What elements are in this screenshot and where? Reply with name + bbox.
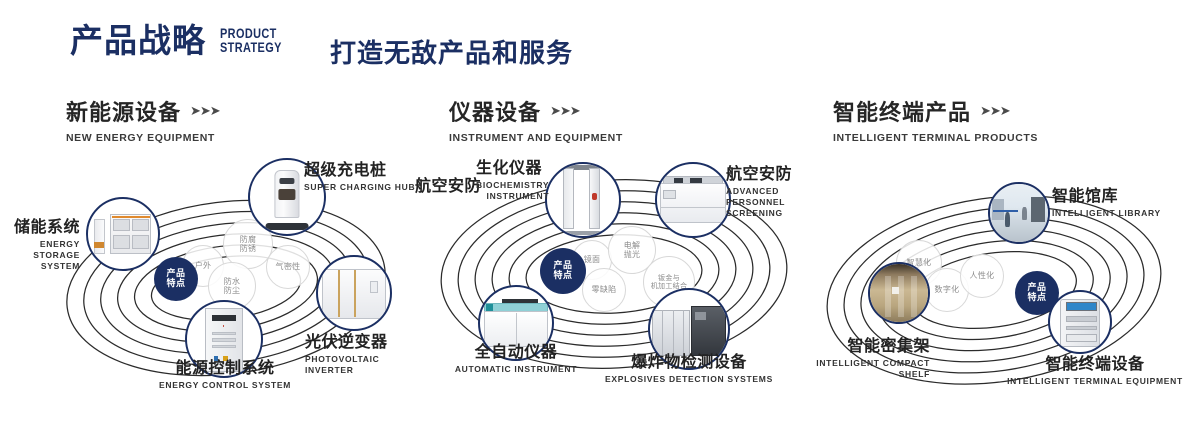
shelf-divider: [911, 276, 917, 318]
section-title-text: 新能源设备: [66, 95, 181, 127]
section-title-en: INTELLIGENT TERMINAL PRODUCTS: [833, 132, 1038, 144]
analyzer-window: [690, 178, 702, 183]
section-title-text: 仪器设备: [449, 95, 541, 127]
caption-intelligent-library: 智能馆库 INTELLIGENT LIBRARY: [1052, 182, 1161, 219]
analyzer-body: [660, 183, 726, 223]
storage-cabinet-photo: [88, 199, 158, 269]
node-advanced-personnel-screening[interactable]: [655, 162, 731, 238]
caption-aviation-security: 航空安防: [415, 172, 481, 196]
caption-explosives-detection: 爆炸物检测设备 EXPLOSIVES DETECTION SYSTEMS: [600, 348, 778, 385]
shelf-divider: [898, 276, 904, 318]
inverter-photo: [318, 257, 390, 329]
chevron-right-icon: ➤➤➤: [980, 104, 1010, 119]
pillar: [94, 219, 105, 254]
control-display: [212, 315, 237, 321]
control-bar: [212, 345, 237, 348]
caption-en: INTELLIGENT LIBRARY: [1052, 208, 1161, 219]
caption-intelligent-terminal-equipment: 智能终端设备 INTELLIGENT TERMINAL EQUIPMENT: [1000, 350, 1190, 387]
analyzer-photo: [657, 164, 729, 236]
caption-en: ENERGY CONTROL SYSTEM: [127, 380, 323, 391]
caption-intelligent-compact-shelf: 智能密集架 INTELLIGENT COMPACTSHELF: [778, 332, 930, 380]
node-photovoltaic-inverter[interactable]: [316, 255, 392, 331]
caption-cn: 生化仪器: [476, 154, 549, 178]
chevron-right-icon: ➤➤➤: [190, 104, 220, 119]
caption-energy-control-system: 能源控制系统 ENERGY CONTROL SYSTEM: [127, 354, 323, 391]
control-bar: [212, 332, 237, 335]
caption-cn: 全自动仪器: [437, 338, 595, 362]
shelf-divider: [885, 276, 891, 318]
caption-en: BIOCHEMISTRYINSTRUMENT: [476, 180, 549, 202]
shelf-label: [892, 287, 899, 294]
page-title: 产品战略 PRODUCT STRATEGY: [70, 24, 299, 57]
feature-bubble: 气密性: [266, 245, 310, 289]
control-indicator: [223, 325, 225, 327]
feature-bubble: 人性化: [960, 254, 1004, 298]
caption-cn: 储能系统: [0, 213, 80, 237]
caption-cn: 智能终端设备: [1000, 350, 1190, 374]
charger-screen: [280, 178, 295, 184]
gate-left-panel: [563, 168, 574, 228]
caption-en: INTELLIGENT TERMINAL EQUIPMENT: [1000, 376, 1190, 387]
cabinet-stripe: [112, 216, 150, 218]
inverter-seam: [338, 270, 340, 318]
control-bar: [212, 338, 237, 341]
caption-en: SUPER CHARGING HUB: [304, 182, 415, 193]
cluster-intelligent-terminal: 智慧化 数字化 人性化 产品特点 智能馆库 INTELLIGENT LIBRAR…: [800, 150, 1200, 400]
caption-cn: 智能馆库: [1052, 182, 1161, 206]
caption-biochemistry-instrument: 生化仪器 BIOCHEMISTRYINSTRUMENT: [476, 154, 549, 202]
person: [1022, 207, 1026, 220]
inverter-seam: [354, 270, 356, 318]
gate-base: [560, 231, 602, 235]
node-intelligent-compact-shelf[interactable]: [868, 262, 930, 324]
feature-bubble: 零缺陷: [582, 268, 626, 312]
page-subtitle: 打造无敌产品和服务: [330, 33, 573, 70]
product-features-badge: 产品特点: [154, 257, 198, 301]
detector-panel: [695, 312, 706, 320]
section-title-en: NEW ENERGY EQUIPMENT: [66, 132, 220, 144]
caption-cn: 能源控制系统: [127, 354, 323, 378]
kiosk-tray: [1066, 334, 1097, 342]
caption-energy-storage-system: 储能系统 ENERGY STORAGESYSTEM: [0, 213, 80, 272]
cluster-instrument: 镜面 电解抛光 零缺陷 钣金与机加工结合 产品特点 航空安防 生化仪器 BIOC…: [410, 150, 810, 400]
gate-indicator: [592, 193, 597, 200]
kiosk-screen: [1066, 302, 1097, 312]
cabinet-panel: [132, 219, 149, 232]
section-title-cn: 仪器设备 ➤➤➤: [449, 95, 623, 127]
cabinet-panel: [113, 219, 130, 232]
caption-cn: 智能密集架: [778, 332, 930, 356]
chevron-right-icon: ➤➤➤: [550, 104, 580, 119]
node-intelligent-library[interactable]: [988, 182, 1050, 244]
cluster-new-energy: 户外 防腐防锈 防水防尘 气密性 产品特点 储能系统 ENERGY STORAG…: [30, 150, 430, 400]
node-biochemistry-instrument[interactable]: [545, 162, 621, 238]
person: [1005, 212, 1010, 227]
inverter-vent: [370, 281, 379, 293]
library-interior-photo: [990, 184, 1048, 242]
kiosk-terminal-photo: [1050, 292, 1110, 352]
shelf: [1031, 197, 1045, 223]
caption-en: ADVANCED PERSONNELSCREENING: [726, 186, 810, 219]
node-intelligent-terminal-equipment[interactable]: [1048, 290, 1112, 354]
caption-en: INTELLIGENT COMPACTSHELF: [778, 358, 930, 380]
caption-advanced-personnel-screening: 航空安防 ADVANCED PERSONNELSCREENING: [726, 160, 810, 219]
caption-en: AUTOMATIC INSTRUMENT: [437, 364, 595, 375]
section-header-new-energy: 新能源设备 ➤➤➤ NEW ENERGY EQUIPMENT: [66, 95, 220, 144]
cabinet-panel: [132, 235, 149, 249]
caption-en: EXPLOSIVES DETECTION SYSTEMS: [600, 374, 778, 385]
caption-cn: 航空安防: [415, 172, 481, 196]
charger-panel: [278, 189, 296, 201]
pillar-accent: [94, 242, 104, 248]
section-header-instrument: 仪器设备 ➤➤➤ INSTRUMENT AND EQUIPMENT: [449, 95, 623, 144]
section-title-cn: 新能源设备 ➤➤➤: [66, 95, 220, 127]
section-title-text: 智能终端产品: [833, 95, 971, 127]
page-title-en-line1: PRODUCT: [220, 26, 282, 40]
section-header-intelligent-terminal: 智能终端产品 ➤➤➤ INTELLIGENT TERMINAL PRODUCTS: [833, 95, 1038, 144]
caption-automatic-instrument: 全自动仪器 AUTOMATIC INSTRUMENT: [437, 338, 595, 375]
page-title-cn: 产品战略: [70, 24, 206, 57]
cabinet-panel: [113, 235, 130, 249]
charger-base: [266, 223, 309, 230]
caption-en: ENERGY STORAGESYSTEM: [0, 239, 80, 272]
section-title-cn: 智能终端产品 ➤➤➤: [833, 95, 1038, 127]
security-gate-photo: [547, 164, 619, 236]
instrument-logo: [486, 304, 493, 310]
caption-cn: 航空安防: [726, 160, 810, 184]
compact-shelf-photo: [870, 264, 928, 322]
section-title-en: INSTRUMENT AND EQUIPMENT: [449, 132, 623, 144]
analyzer-panel: [663, 190, 676, 199]
node-energy-storage-system[interactable]: [86, 197, 160, 271]
kiosk-panel: [1066, 316, 1097, 322]
page-title-en: PRODUCT STRATEGY: [220, 26, 282, 57]
kiosk-panel: [1066, 326, 1097, 331]
charger-body: [274, 170, 299, 217]
analyzer-window: [674, 178, 683, 183]
caption-super-charging-hub: 超级充电桩 SUPER CHARGING HUB: [304, 156, 415, 193]
analyzer-seam: [660, 207, 726, 208]
caption-cn: 超级充电桩: [304, 156, 415, 180]
caption-cn: 爆炸物检测设备: [600, 348, 778, 372]
page-title-en-line2: STRATEGY: [220, 40, 282, 54]
